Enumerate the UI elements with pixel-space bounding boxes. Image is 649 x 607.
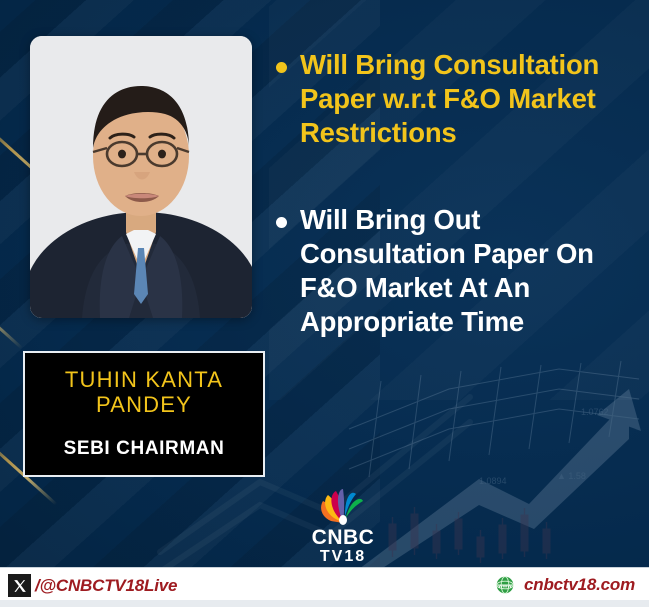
- channel-logo-sub: TV18: [295, 548, 391, 566]
- x-glyph-icon: [13, 579, 27, 593]
- bullet-item-2: Will Bring Out Consultation Paper On F&O…: [276, 203, 642, 338]
- speaker-portrait: [30, 36, 252, 318]
- broadcast-news-card: 1.0894 ▲ 1.58 1.0762: [0, 0, 649, 607]
- headline-bullet-list: Will Bring Consultation Paper w.r.t F&O …: [276, 48, 642, 339]
- channel-logo-name: CNBC: [295, 527, 391, 548]
- speaker-name: TUHIN KANTA PANDEY: [25, 368, 263, 417]
- x-twitter-icon[interactable]: [8, 574, 31, 597]
- name-plate: TUHIN KANTA PANDEY SEBI CHAIRMAN: [23, 351, 265, 477]
- bullet-text-1: Will Bring Consultation Paper w.r.t F&O …: [300, 48, 642, 149]
- www-globe-icon: www: [495, 575, 515, 595]
- portrait-illustration: [30, 36, 252, 318]
- channel-logo: CNBC TV18: [295, 483, 391, 566]
- website-text[interactable]: cnbctv18.com: [524, 575, 635, 595]
- footer-bar: /@CNBCTV18Live www cnbctv18.com: [0, 567, 649, 607]
- social-handle-text[interactable]: /@CNBCTV18Live: [35, 576, 177, 596]
- social-handle[interactable]: /@CNBCTV18Live: [8, 574, 177, 597]
- nbc-peacock-icon: [312, 483, 374, 525]
- bullet-dot-icon: [276, 62, 287, 73]
- website-link[interactable]: www cnbctv18.com: [495, 575, 635, 595]
- svg-text:www: www: [497, 584, 512, 590]
- speaker-title: SEBI CHAIRMAN: [64, 438, 225, 460]
- bullet-text-2: Will Bring Out Consultation Paper On F&O…: [300, 203, 642, 338]
- footer-bottom-strip: [0, 600, 649, 607]
- bullet-item-1: Will Bring Consultation Paper w.r.t F&O …: [276, 48, 642, 149]
- bullet-dot-icon: [276, 217, 287, 228]
